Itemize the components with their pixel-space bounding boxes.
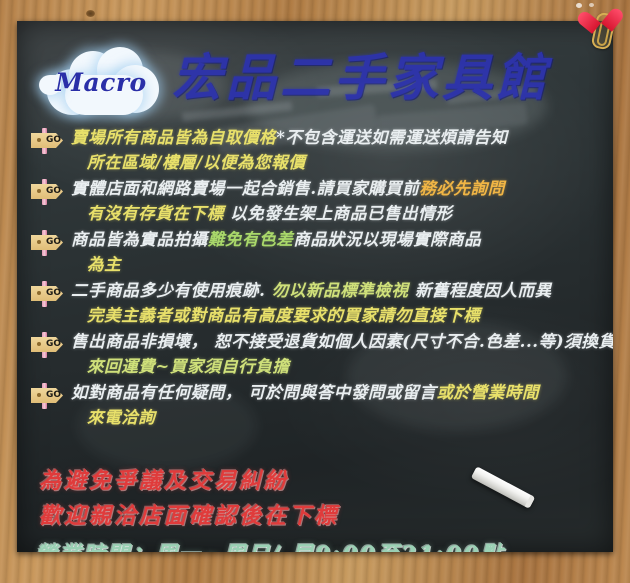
note-item: GO商品皆為實品拍攝難免有色差商品狀況以現場實際商品為主: [17, 227, 613, 277]
note-line: 為主: [71, 252, 613, 277]
go-signpost-icon: GO: [29, 230, 67, 256]
board-header: Macro 宏品二手家具館: [17, 29, 613, 125]
note-line: 來回運費~買家須自行負擔: [71, 354, 613, 379]
warning-line: 歡迎親洽店面確認後在下標: [39, 499, 599, 534]
note-text-segment: 商品皆為實品拍攝: [71, 230, 208, 249]
go-signpost-icon: GO: [29, 179, 67, 205]
heart-highlight: [589, 3, 594, 7]
note-text-segment: 賣場所有商品皆為自取價格: [71, 128, 276, 147]
note-line: 所在區域/樓層/以便為您報價: [71, 150, 613, 175]
note-line: 商品皆為實品拍攝難免有色差商品狀況以現場實際商品: [71, 227, 613, 252]
note-line: 實體店面和網路賣場一起合銷售.請買家購買前務必先詢問: [71, 176, 613, 201]
note-text-segment: *不包含運送如需運送煩請告知: [276, 128, 508, 147]
note-text-segment: 務必先詢問: [419, 179, 505, 198]
note-item: GO實體店面和網路賣場一起合銷售.請買家購買前務必先詢問有沒有存貨在下標 以免發…: [17, 176, 613, 226]
logo-text: Macro: [39, 45, 163, 119]
note-line: 有沒有存貨在下標 以免發生架上商品已售出情形: [71, 201, 613, 226]
note-text-segment: 來電洽詢: [87, 408, 155, 427]
shop-title: 宏品二手家具館: [172, 43, 602, 113]
note-line: 賣場所有商品皆為自取價格*不包含運送如需運送煩請告知: [71, 125, 613, 150]
note-item: GO售出商品非損壞， 恕不接受退貨如個人因素(尺寸不合.色差...等)須換貨來回…: [17, 329, 613, 379]
note-text-segment: 商品狀況以現場實際商品: [293, 230, 481, 249]
note-line: 完美主義者或對商品有高度要求的買家請勿直接下標: [71, 303, 613, 328]
business-hours: 營業時間：周一~周日/ 早9:00至21:00點: [35, 539, 605, 552]
go-signpost-icon: GO: [29, 128, 67, 154]
note-text-segment: 完美主義者或對商品有高度要求的買家請勿直接下標: [87, 306, 480, 325]
note-text-segment: 有沒有存貨在下標: [87, 204, 224, 223]
note-text-segment: 難免有色差: [208, 230, 294, 249]
note-text-segment: 如對商品有任何疑問， 可於問與答中發問或留言: [71, 383, 436, 402]
note-text-segment: 來回運費~買家須自行負擔: [87, 357, 290, 376]
note-line: 售出商品非損壞， 恕不接受退貨如個人因素(尺寸不合.色差...等)須換貨: [71, 329, 613, 354]
cloud-logo: Macro: [39, 45, 163, 119]
note-text-segment: 勿以新品標準檢視: [272, 281, 409, 300]
note-text-segment: 為主: [87, 255, 121, 274]
note-text-segment: 新舊程度因人而異: [409, 281, 552, 300]
note-text-segment: 或於營業時間: [436, 383, 539, 402]
notes-list: GO賣場所有商品皆為自取價格*不包含運送如需運送煩請告知所在區域/樓層/以便為您…: [17, 125, 613, 431]
note-text-segment: 所在區域/樓層/以便為您報價: [87, 153, 305, 172]
go-signpost-icon: GO: [29, 332, 67, 358]
blackboard: Macro 宏品二手家具館 GO賣場所有商品皆為自取價格*不包含運送如需運送煩請…: [17, 21, 613, 552]
note-line: 二手商品多少有使用痕跡. 勿以新品標準檢視 新舊程度因人而異: [71, 278, 613, 303]
go-signpost-icon: GO: [29, 281, 67, 307]
heart-paperclip-decoration: [572, 0, 624, 46]
note-text-segment: 實體店面和網路賣場一起合銷售.請買家購買前: [71, 179, 419, 198]
note-item: GO賣場所有商品皆為自取價格*不包含運送如需運送煩請告知所在區域/樓層/以便為您…: [17, 125, 613, 175]
wooden-frame: Macro 宏品二手家具館 GO賣場所有商品皆為自取價格*不包含運送如需運送煩請…: [0, 0, 630, 583]
heart-highlight: [576, 3, 582, 8]
note-text-segment: 以免發生架上商品已售出情形: [224, 204, 453, 223]
note-item: GO二手商品多少有使用痕跡. 勿以新品標準檢視 新舊程度因人而異完美主義者或對商…: [17, 278, 613, 328]
go-signpost-icon: GO: [29, 383, 67, 409]
note-text-segment: 售出商品非損壞， 恕不接受退貨如個人因素(尺寸不合.色差...等)須換貨: [71, 332, 613, 351]
note-line: 如對商品有任何疑問， 可於問與答中發問或留言或於營業時間: [71, 380, 613, 405]
note-text-segment: 二手商品多少有使用痕跡.: [71, 281, 272, 300]
note-line: 來電洽詢: [71, 405, 613, 430]
note-item: GO如對商品有任何疑問， 可於問與答中發問或留言或於營業時間來電洽詢: [17, 380, 613, 430]
